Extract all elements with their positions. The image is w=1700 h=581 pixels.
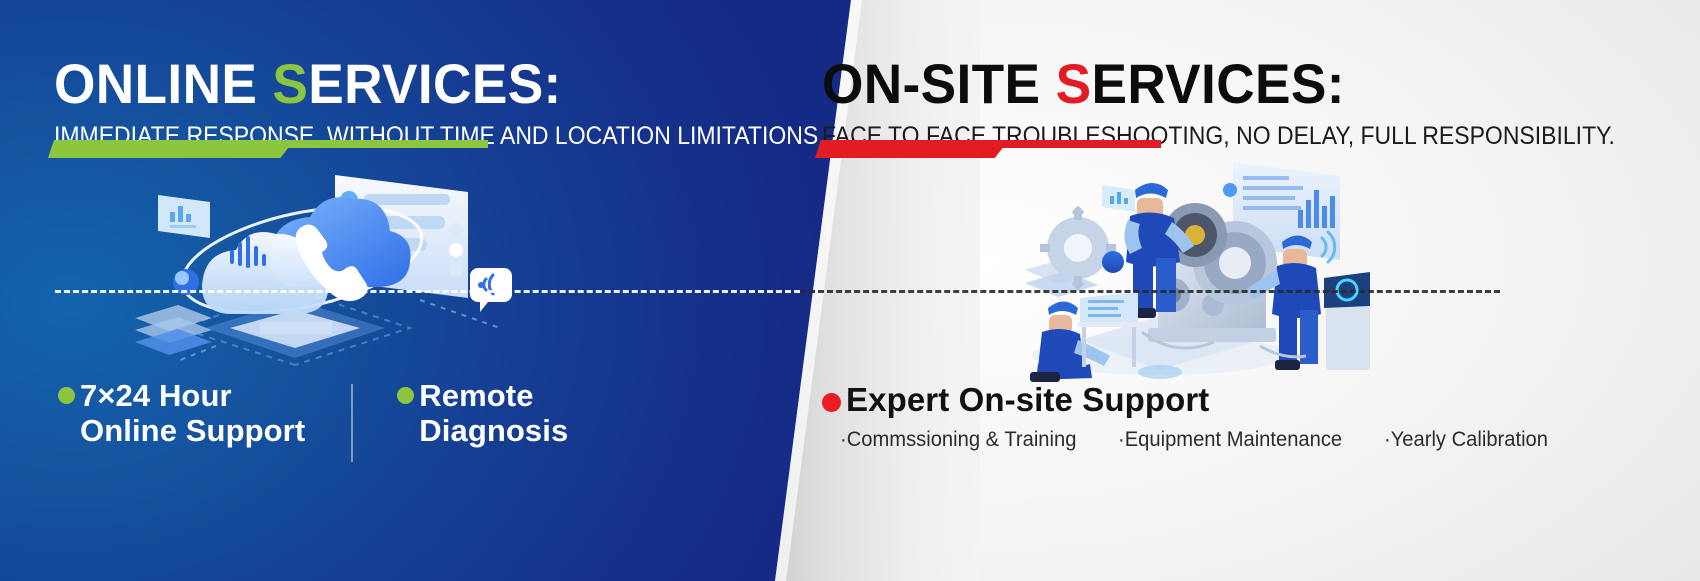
- feature-label: Remote Diagnosis: [419, 378, 568, 448]
- right-heading-block: ON-SITE SERVICES: FACE TO FACE TROUBLESH…: [822, 56, 1684, 149]
- feature-label: Expert On-site Support: [846, 382, 1209, 418]
- left-title-post: ERVICES:: [308, 52, 561, 115]
- feature-divider: [351, 384, 353, 462]
- left-accent-bar: [48, 140, 488, 158]
- right-title-pre: ON-SITE: [822, 52, 1056, 115]
- right-accent-segment-thin: [995, 140, 1161, 148]
- feature-label: 7×24 Hour Online Support: [80, 378, 305, 448]
- cloud-call-center-illustration: [120, 150, 550, 390]
- left-panel-title: ONLINE SERVICES:: [54, 56, 850, 112]
- right-feature-list: Expert On-site Support ·Commssioning & T…: [822, 382, 1555, 452]
- engineers-machine-service-illustration: [930, 150, 1370, 385]
- left-title-highlight: S: [272, 52, 308, 115]
- left-feature-list: 7×24 Hour Online Support Remote Diagnosi…: [58, 378, 568, 462]
- right-sub-item-list: ·Commssioning & Training ·Equipment Main…: [840, 428, 1555, 452]
- feature-item-expert-support: Expert On-site Support: [822, 382, 1555, 418]
- left-title-pre: ONLINE: [54, 52, 272, 115]
- left-heading-block: ONLINE SERVICES: IMMEDIATE RESPONSE, WIT…: [54, 56, 892, 149]
- bullet-dot-icon: [58, 387, 75, 404]
- left-accent-segment-thin: [277, 140, 488, 148]
- dashed-line-left: [55, 290, 800, 293]
- right-title-highlight: S: [1056, 52, 1092, 115]
- right-title-post: ERVICES:: [1091, 52, 1344, 115]
- sub-item-commissioning-training: ·Commssioning & Training: [840, 428, 1076, 452]
- dashed-line-right: [800, 290, 1500, 293]
- right-accent-segment-thick: [815, 140, 1009, 158]
- feature-item-remote-diagnosis: Remote Diagnosis: [397, 378, 568, 448]
- bullet-dot-icon: [397, 387, 414, 404]
- right-accent-bar: [815, 140, 1161, 158]
- feature-item-online-support: 7×24 Hour Online Support: [58, 378, 305, 448]
- left-accent-segment-thick: [48, 140, 294, 158]
- services-banner: ONLINE SERVICES: IMMEDIATE RESPONSE, WIT…: [0, 0, 1700, 581]
- sub-item-yearly-calibration: ·Yearly Calibration: [1384, 428, 1548, 452]
- bullet-dot-icon: [822, 393, 841, 412]
- right-panel-title: ON-SITE SERVICES:: [822, 56, 1641, 112]
- sub-item-equipment-maintenance: ·Equipment Maintenance: [1118, 428, 1342, 452]
